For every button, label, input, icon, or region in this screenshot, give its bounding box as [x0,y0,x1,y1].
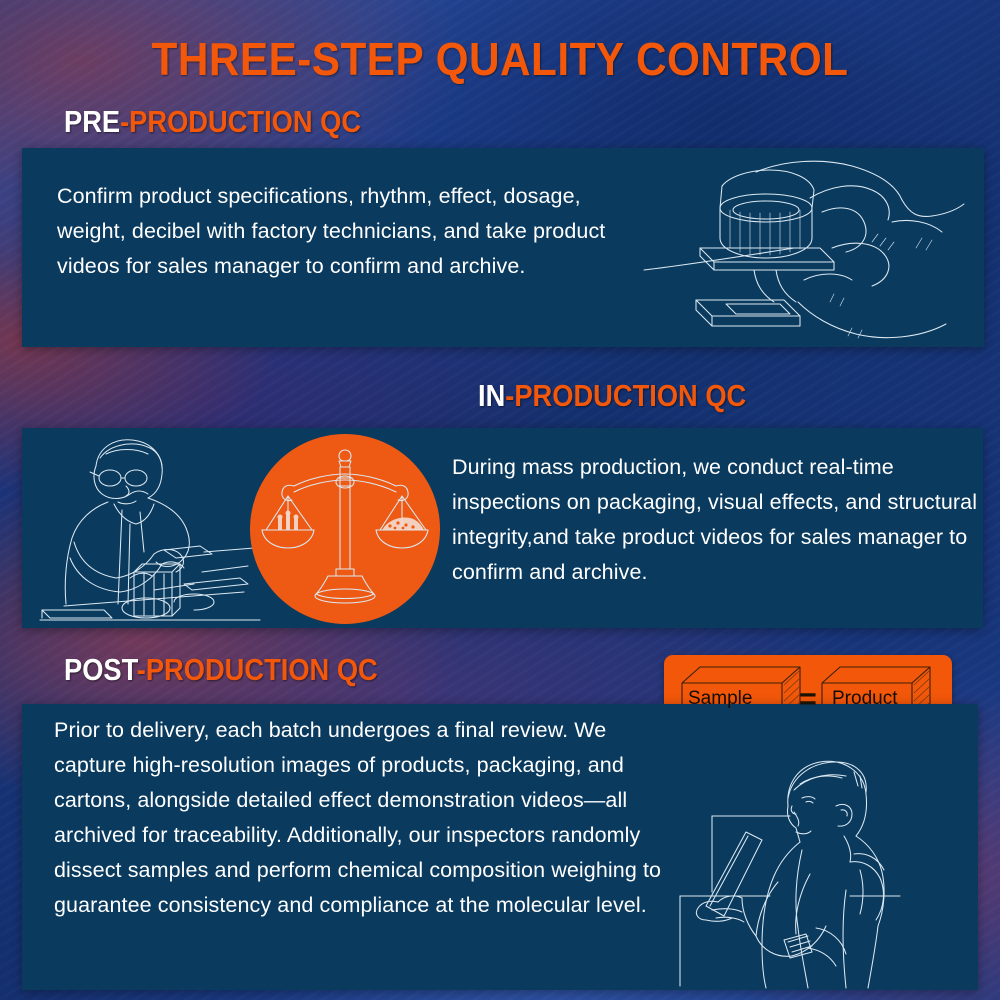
panel-post-production: Prior to delivery, each batch undergoes … [22,704,978,990]
panel-in-production: During mass production, we conduct real-… [22,428,983,628]
panel-pre-production-text: Confirm product specifications, rhythm, … [57,179,617,284]
panel-in-production-text: During mass production, we conduct real-… [452,450,983,590]
sample-label: Sample [688,688,752,710]
section-heading-prefix: POST [64,652,137,687]
page-title: THREE-STEP QUALITY CONTROL [40,32,960,86]
section-heading-prefix: PRE [64,104,120,139]
section-heading-prefix: IN [478,378,505,413]
product-label: Product [832,688,897,710]
worker-inspecting-parts-illustration [34,432,264,628]
section-heading-suffix: -PRODUCTION QC [137,652,378,687]
balance-scale-icon [250,434,440,624]
panel-pre-production: Confirm product specifications, rhythm, … [22,148,984,347]
section-heading-suffix: -PRODUCTION QC [505,378,746,413]
balance-scale-circle [250,434,440,624]
section-heading-in-production: IN-PRODUCTION QC [478,378,746,414]
hand-holding-component-illustration [634,152,984,347]
equals-sign: = [799,682,817,716]
section-heading-post-production: POST-PRODUCTION QC [64,652,378,688]
section-heading-pre-production: PRE-PRODUCTION QC [64,104,361,140]
section-heading-suffix: -PRODUCTION QC [120,104,361,139]
man-with-tablet-illustration [650,750,978,990]
panel-post-production-text: Prior to delivery, each batch undergoes … [54,713,684,923]
